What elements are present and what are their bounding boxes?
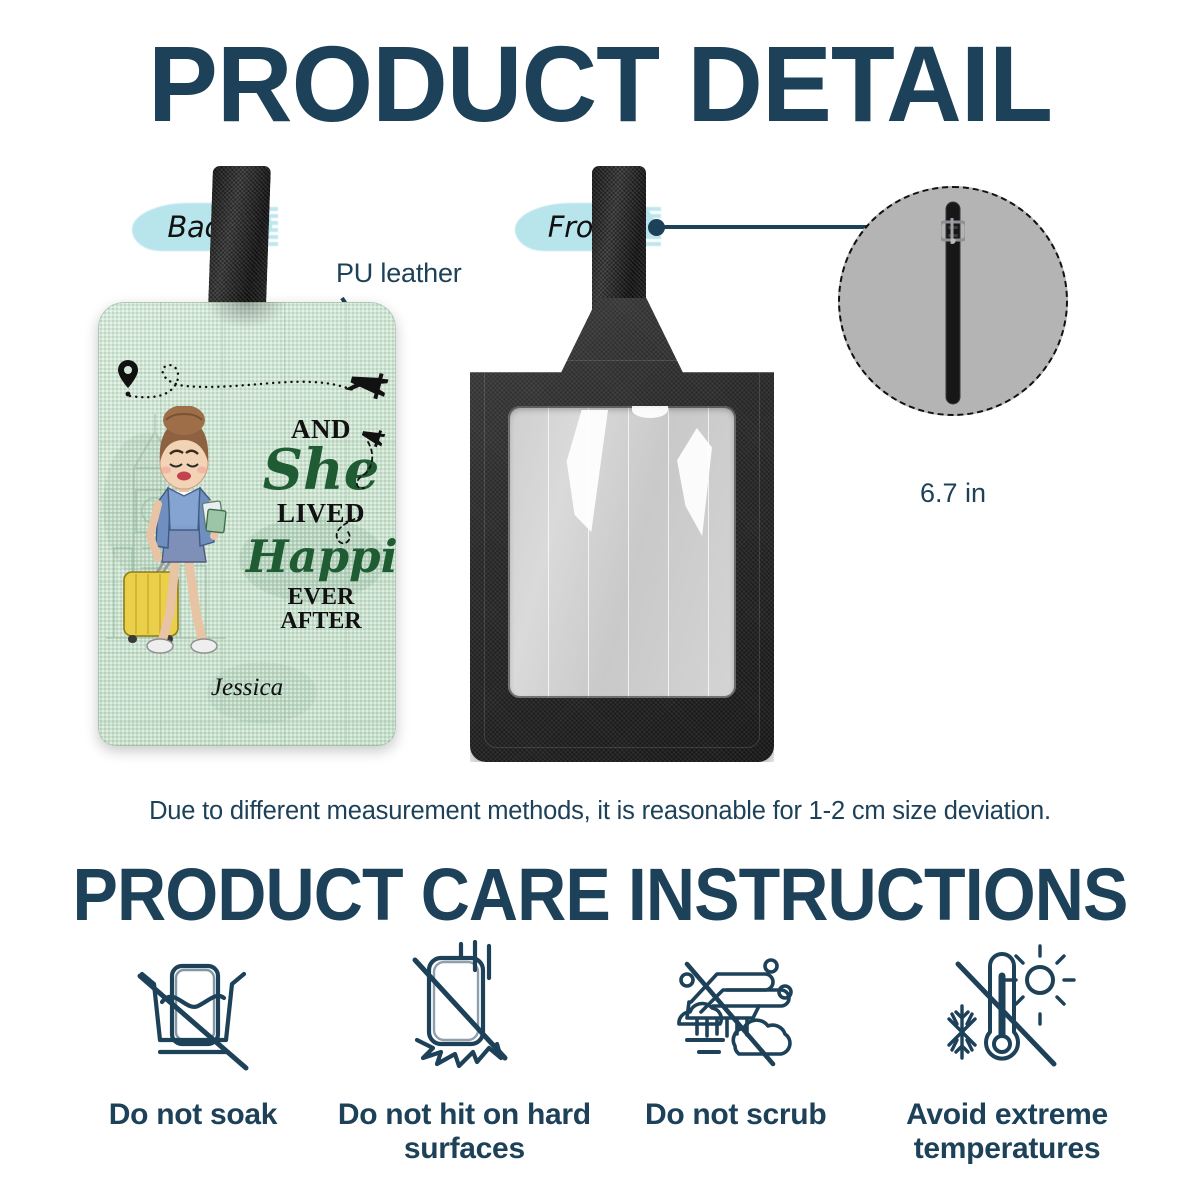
care-item-no-soak: Do not soak <box>60 940 326 1132</box>
care-item-no-impact: Do not hit on hard surfaces <box>331 940 597 1165</box>
tag-front-face <box>470 298 774 762</box>
strap-detail-zoom-circle <box>838 186 1068 416</box>
product-detail-infographic: PRODUCT DETAIL <box>0 0 1200 1200</box>
no-soak-icon <box>118 940 268 1086</box>
strap-shadow <box>206 302 286 328</box>
window-glare <box>674 428 712 536</box>
luggage-tag-back-view: AND She LIVED Happily EVER AFTER Jessica <box>92 166 402 746</box>
care-item-label: Avoid extreme temperatures <box>874 1098 1140 1165</box>
address-card-window <box>508 406 736 698</box>
care-item-label: Do not scrub <box>645 1098 826 1132</box>
care-item-label: Do not soak <box>109 1098 277 1132</box>
woman-with-suitcase-illustration <box>118 406 250 666</box>
luggage-tag-front-view <box>470 166 780 762</box>
care-instructions-row: Do not soak Do not hit on <box>60 940 1140 1170</box>
care-item-no-scrub: Do not scrub <box>603 940 869 1132</box>
window-glare <box>564 410 608 532</box>
care-section-title: PRODUCT CARE INSTRUCTIONS <box>48 858 1152 932</box>
strap-with-buckle-icon <box>941 200 965 406</box>
airplane-icon <box>344 366 389 401</box>
callout-pu-leather-label: PU leather <box>336 258 462 289</box>
quote-line-5: EVER AFTER <box>246 585 396 633</box>
passport-icon <box>202 501 226 533</box>
care-item-no-extreme-temperature: Avoid extreme temperatures <box>874 940 1140 1165</box>
no-impact-icon <box>389 940 539 1086</box>
metal-buckle <box>941 218 965 244</box>
size-deviation-note: Due to different measurement methods, it… <box>0 797 1200 826</box>
no-extreme-temperature-icon <box>932 940 1082 1086</box>
dashed-flight-path <box>106 354 392 412</box>
map-pin-icon <box>118 360 138 396</box>
care-item-label: Do not hit on hard surfaces <box>331 1098 597 1165</box>
window-glare <box>632 406 668 418</box>
tag-back-face: AND She LIVED Happily EVER AFTER Jessica <box>98 302 396 746</box>
size-label: 6.7 in <box>838 478 1068 509</box>
personalized-name: Jessica <box>98 674 396 702</box>
page-title: PRODUCT DETAIL <box>18 30 1182 138</box>
no-scrub-icon <box>661 940 811 1086</box>
quote-airplane-swirl-icon <box>328 420 392 570</box>
